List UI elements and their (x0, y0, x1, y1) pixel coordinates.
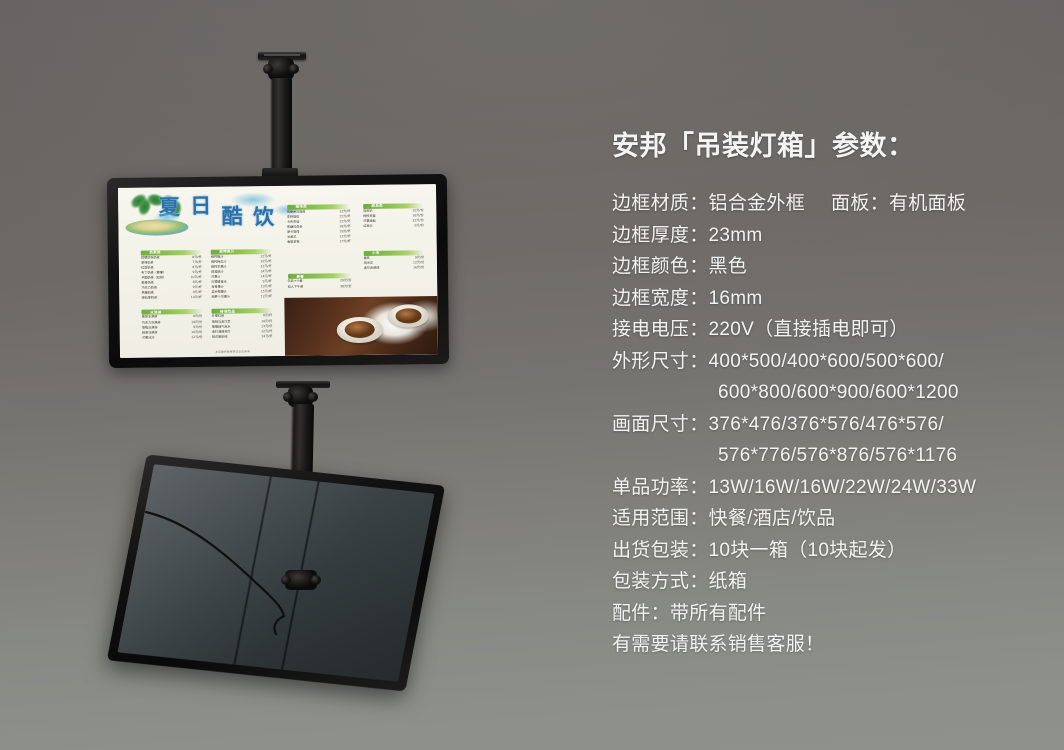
menu-section: 小食 薯条9元/份 鸡米花12元/份 奥尔良烤翅16元/份 (364, 251, 425, 272)
spec-value: 376*476/376*576/476*576/ (709, 409, 944, 441)
menu-items: 饮品+小食20元/套 双人下午茶38元/套 (288, 280, 352, 290)
lightbox-screen: 夏 日 酷 饮 (118, 184, 438, 358)
menu-section: 咖啡类 现磨美式咖啡12元/杯 拿铁咖啡15元/杯 卡布奇诺15元/杯 焦糖玛奇… (287, 204, 351, 245)
spec-label: 边框宽度： (612, 283, 709, 315)
spec-row-outer-size: 外形尺寸： 400*500/400*600/500*600/ (612, 346, 1042, 378)
menu-items: 柠檬红茶8元/杯 蜜桃乌龙冷萃14元/杯 葡萄柚气泡水13元/杯 青柠薄荷苏打1… (212, 315, 273, 340)
spec-value: 纸箱 (709, 566, 748, 598)
menu-section: 特调饮品 柠檬红茶8元/杯 蜜桃乌龙冷萃14元/杯 葡萄柚气泡水13元/杯 青柠… (212, 308, 273, 339)
tilt-knuckle (285, 570, 317, 590)
menu-section: 奶茶类 招牌珍珠奶茶8元/杯 原味奶茶7元/杯 红豆奶茶8元/杯 布丁奶茶（椰果… (141, 250, 202, 301)
spec-row-shipping-package: 出货包装： 10块一箱（10块起发） (612, 535, 1042, 567)
spec-label: 边框厚度： (612, 220, 709, 252)
spec-value: 带所有配件 (670, 598, 767, 630)
menu-item: 烧仙草奶茶10元/杯 (142, 296, 202, 301)
spec-value: 400*500/400*600/500*600/ (709, 346, 944, 378)
spec-value: 13W/16W/16W/22W/24W/33W (709, 472, 977, 504)
spec-label: 外形尺寸： (612, 346, 709, 378)
menu-items: 鲜榨橙汁12元/杯 鲜榨西瓜汁10元/杯 鲜榨苹果汁12元/杯 猕猴桃汁14元/… (211, 255, 272, 300)
spec-row-frame-thickness: 边框厚度： 23mm (612, 220, 1042, 252)
swivel-joint-icon (268, 58, 294, 80)
menu-item: 双人下午茶38元/套 (288, 285, 352, 290)
spec-label: 单品功率： (612, 472, 709, 504)
menu-footer-note: 本店最终解释权归本店所有 (215, 350, 250, 354)
spec-row-application: 适用范围： 快餐/酒店/饮品 (612, 503, 1042, 535)
spec-value: 10块一箱（10块起发） (709, 535, 907, 567)
menu-item: 香草拿铁17元/杯 (287, 240, 351, 245)
spec-row-power: 单品功率： 13W/16W/16W/22W/24W/33W (612, 472, 1042, 504)
spec-value: 黑色 (709, 251, 748, 283)
page-title: 安邦「吊装灯箱」参数： (612, 124, 1042, 163)
spec-value: 16mm (709, 283, 763, 315)
menu-section-heading: 奶茶类 (141, 250, 201, 256)
spec-label: 边框材质： (612, 188, 709, 220)
spec-value: 220V（直接插电即可） (709, 314, 909, 346)
menu-items: 香草冰淇淋8元/份 巧克力冰淇淋10元/份 草莓冰淇淋9元/份 抹茶冰淇淋10元… (142, 315, 203, 340)
spec-label-panel: 面板： (831, 188, 889, 220)
menu-section-heading: 甜品类 (363, 203, 423, 209)
menu-item: 桂花酿奶绿14元/杯 (212, 335, 272, 340)
menu-item: 芒果冰沙12元/份 (142, 336, 202, 341)
spec-row-frame-color: 边框颜色： 黑色 (612, 251, 1042, 283)
spec-label: 出货包装： (612, 535, 709, 567)
spec-value: 铝合金外框 (709, 188, 806, 220)
spec-label: 画面尺寸： (612, 409, 709, 441)
menu-items: 招牌珍珠奶茶8元/杯 原味奶茶7元/杯 红豆奶茶8元/杯 布丁奶茶（椰果）9元/… (141, 256, 202, 301)
product-spec-image: 夏 日 酷 饮 (0, 0, 1064, 750)
spec-row-graphic-size-continued: 576*776/576*876/576*1176 (612, 440, 1042, 472)
menu-section: 甜品类 双皮奶10元/份 杨枝甘露16元/份 芒果班戟15元/份 红豆沙9元/份 (363, 203, 424, 229)
menu-items: 薯条9元/份 鸡米花12元/份 奥尔良烤翅16元/份 (364, 257, 425, 272)
spec-value: 576*776/576*876/576*1176 (718, 440, 957, 472)
hero-char-3: 酷 (222, 206, 243, 227)
spec-label: 配件： (612, 598, 670, 630)
menu-item: 奥尔良烤翅16元/份 (364, 267, 424, 272)
spec-value: 快餐/酒店/饮品 (709, 503, 836, 535)
lightbox-back-panel (117, 464, 434, 682)
spec-row-graphic-size: 画面尺寸： 376*476/376*576/476*576/ (612, 409, 1042, 441)
spec-row-accessories: 配件： 带所有配件 (612, 598, 1042, 630)
drop-pole (270, 78, 292, 182)
menu-section-heading: 鲜榨果汁 (211, 249, 271, 255)
spec-label: 接电电压： (612, 314, 709, 346)
spec-label: 边框颜色： (612, 251, 709, 283)
coffee-cup-icon (337, 317, 383, 344)
spec-value-panel: 有机面板 (889, 188, 966, 220)
menu-poster: 夏 日 酷 饮 (118, 184, 438, 358)
menu-items: 双皮奶10元/份 杨枝甘露16元/份 芒果班戟15元/份 红豆沙9元/份 (363, 209, 424, 229)
contact-sales-note: 有需要请联系销售客服！ (612, 629, 1042, 661)
spec-row-frame-material: 边框材质： 铝合金外框 面板： 有机面板 (612, 188, 1042, 220)
hero-char-2: 日 (190, 196, 211, 217)
menu-item: 胡萝卜苹果汁12元/杯 (212, 295, 272, 300)
menu-section: 鲜榨果汁 鲜榨橙汁12元/杯 鲜榨西瓜汁10元/杯 鲜榨苹果汁12元/杯 猕猴桃… (211, 249, 272, 300)
lightbox-lower-unit (107, 454, 445, 691)
menu-items: 现磨美式咖啡12元/杯 拿铁咖啡15元/杯 卡布奇诺15元/杯 焦糖玛奇朵18元… (287, 210, 351, 245)
spec-row-frame-width: 边框宽度： 16mm (612, 283, 1042, 315)
spec-value: 600*800/600*900/600*1200 (718, 377, 959, 409)
spec-value: 23mm (709, 220, 763, 252)
spec-row-outer-size-continued: 600*800/600*900/600*1200 (612, 377, 1042, 409)
spec-label: 适用范围： (612, 503, 709, 535)
coffee-cup-icon (389, 304, 429, 328)
menu-section: 套餐 饮品+小食20元/套 双人下午茶38元/套 (288, 273, 352, 289)
menu-section: 冰淇淋 香草冰淇淋8元/份 巧克力冰淇淋10元/份 草莓冰淇淋9元/份 抹茶冰淇… (142, 309, 203, 340)
product-photo: 夏 日 酷 饮 (0, 0, 580, 750)
spec-row-voltage: 接电电压： 220V（直接插电即可） (612, 314, 1042, 346)
specification-list: 边框材质： 铝合金外框 面板： 有机面板 边框厚度： 23mm 边框颜色： 黑色… (612, 188, 1042, 661)
spec-label: 包装方式： (612, 566, 709, 598)
menu-section-heading: 咖啡类 (287, 204, 351, 210)
lightbox-upper-unit: 夏 日 酷 饮 (107, 174, 449, 368)
menu-hero-title: 夏 日 酷 饮 (159, 194, 296, 234)
spec-row-packaging-method: 包装方式： 纸箱 (612, 566, 1042, 598)
coffee-photo (285, 296, 438, 356)
menu-hero: 夏 日 酷 饮 (118, 186, 303, 249)
menu-item: 红豆沙9元/份 (363, 224, 423, 229)
hero-char-4: 饮 (253, 207, 274, 228)
specification-panel: 安邦「吊装灯箱」参数： 边框材质： 铝合金外框 面板： 有机面板 边框厚度： 2… (612, 124, 1042, 661)
